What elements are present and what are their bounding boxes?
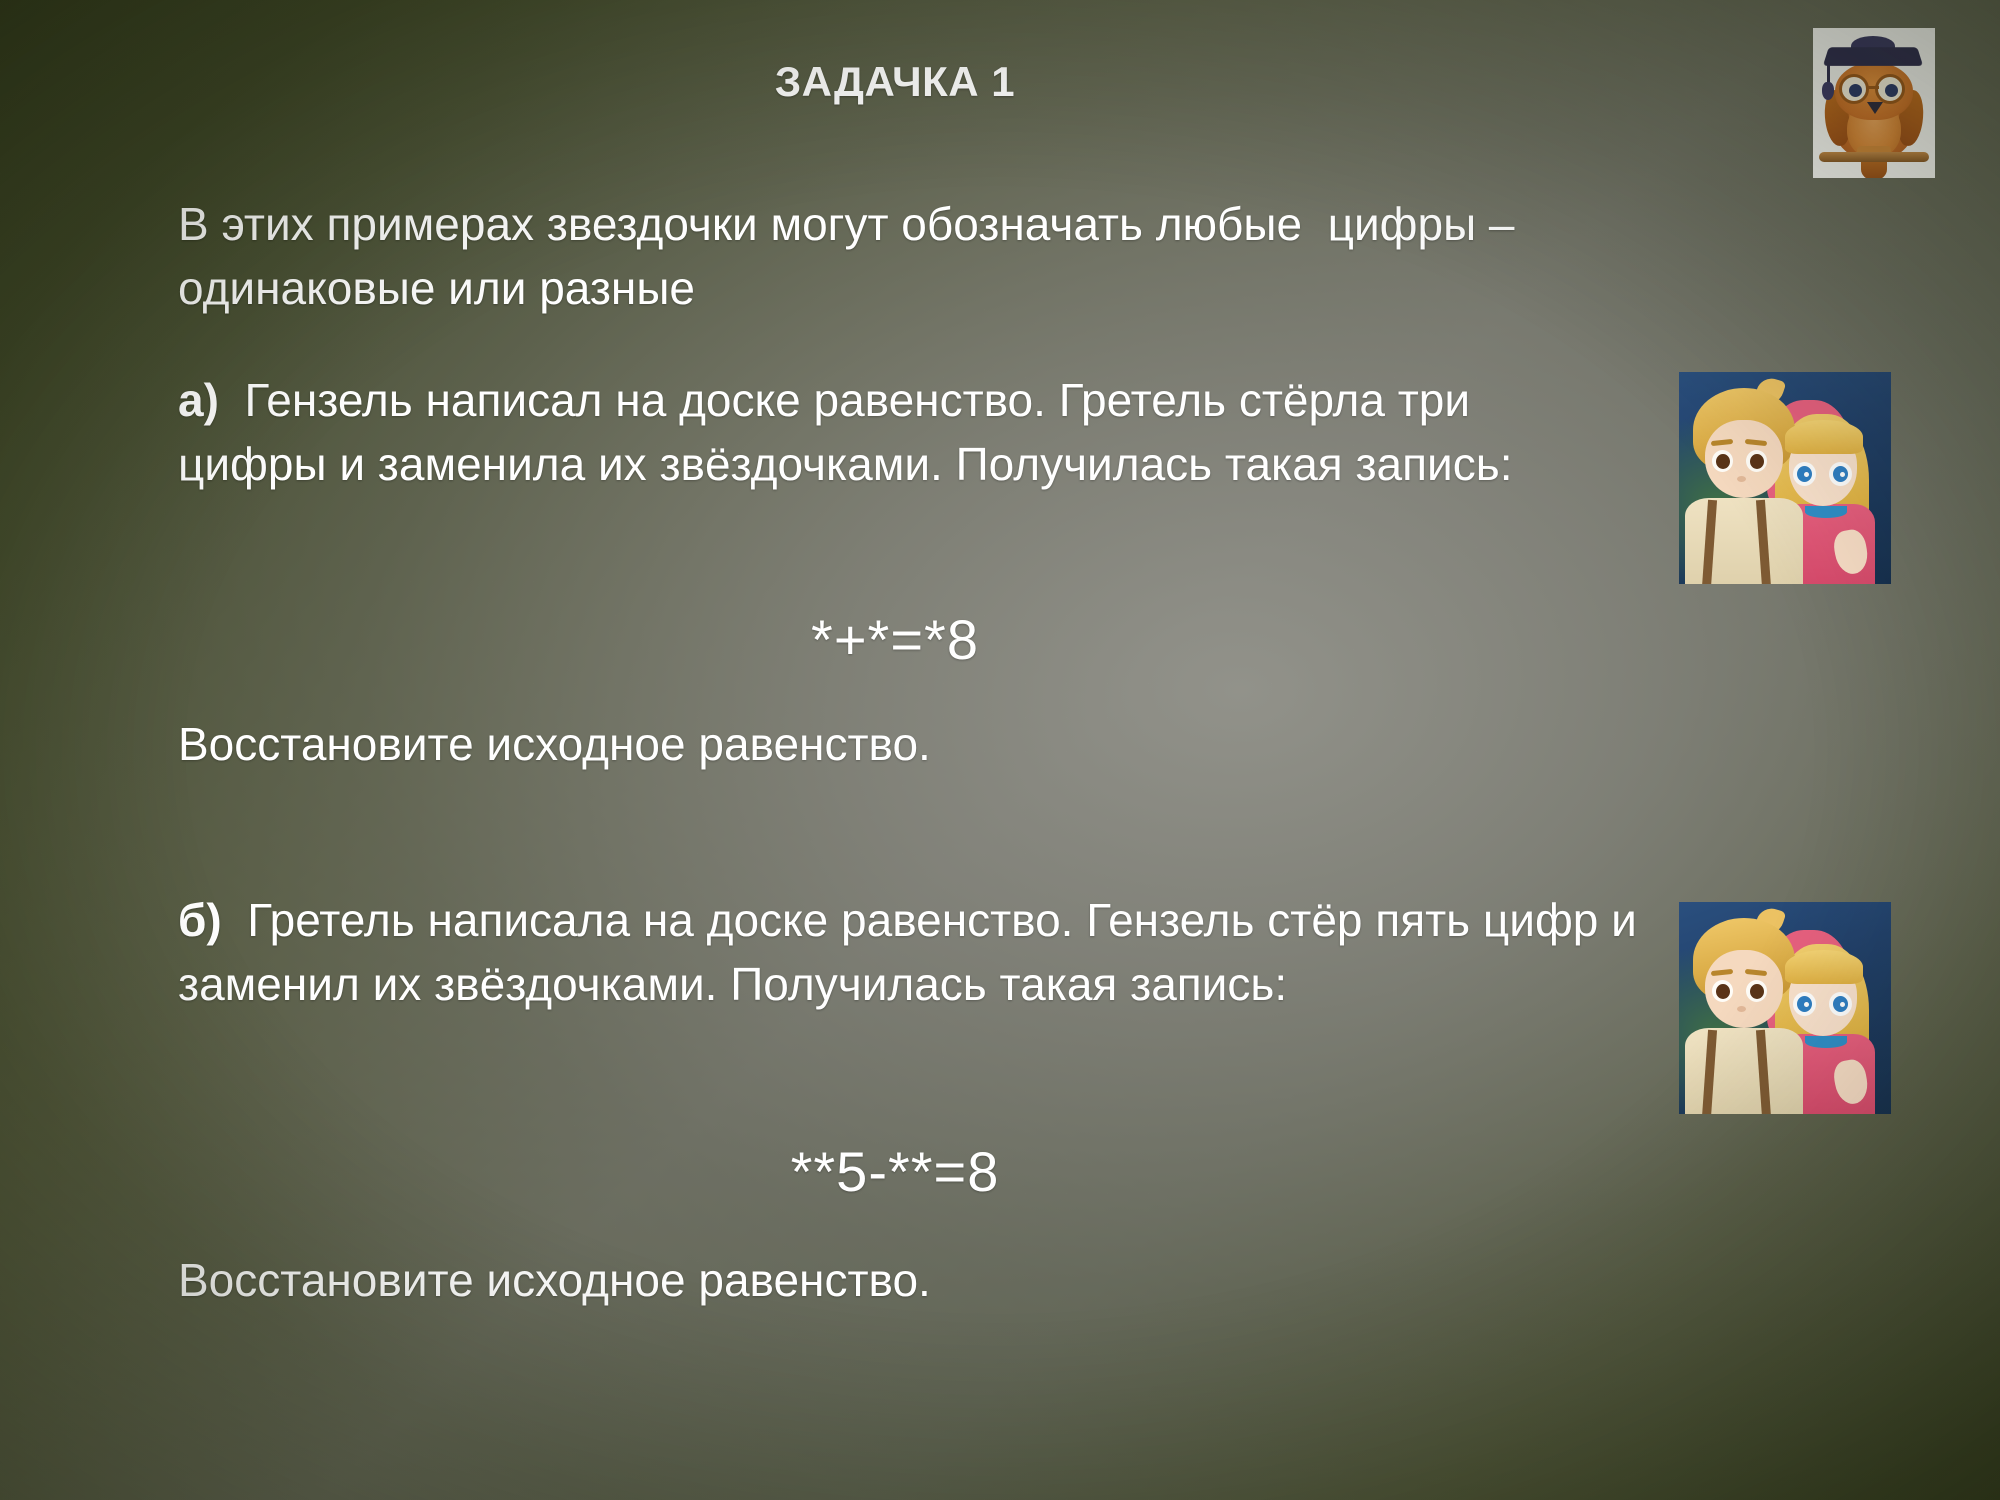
problem-b-text: б) Гретель написала на доске равенство. … bbox=[178, 888, 1638, 1016]
graduation-cap-tassel-end bbox=[1822, 82, 1834, 100]
hansel-pupil-left bbox=[1716, 984, 1730, 999]
hansel-pupil-left bbox=[1716, 454, 1730, 469]
problem-b-body: Гретель написала на доске равенство. Ген… bbox=[178, 894, 1650, 1010]
problem-b-equation: **5-**=8 bbox=[0, 1140, 1790, 1204]
hansel-pupil-right bbox=[1750, 454, 1764, 469]
gretel-pupil-left bbox=[1797, 466, 1812, 482]
gretel-collar bbox=[1805, 1036, 1847, 1048]
gretel-pupil-right bbox=[1833, 996, 1848, 1012]
owl-scholar-image bbox=[1813, 28, 1935, 178]
hansel-eye-left bbox=[1712, 450, 1733, 472]
page-title: ЗАДАЧКА 1 bbox=[0, 58, 1790, 106]
owl-icon bbox=[1813, 28, 1935, 178]
hansel-pupil-right bbox=[1750, 984, 1764, 999]
hansel-nose bbox=[1737, 476, 1746, 482]
gretel-eye-right bbox=[1829, 992, 1852, 1016]
graduation-cap-board bbox=[1823, 47, 1923, 66]
owl-glasses-bridge bbox=[1867, 86, 1879, 89]
hansel-eye-right bbox=[1746, 980, 1767, 1002]
gretel-bangs bbox=[1785, 950, 1863, 984]
hansel-gretel-image-a bbox=[1679, 372, 1891, 584]
gretel-bangs bbox=[1785, 420, 1863, 454]
problem-a-restore: Восстановите исходное равенство. bbox=[178, 712, 1378, 776]
gretel-pupil-right bbox=[1833, 466, 1848, 482]
problem-a-equation: *+*=*8 bbox=[0, 608, 1790, 672]
intro-paragraph: В этих примерах звездочки могут обознача… bbox=[178, 192, 1518, 320]
hansel-eye-right bbox=[1746, 450, 1767, 472]
hansel-eye-left bbox=[1712, 980, 1733, 1002]
hansel-gretel-image-b bbox=[1679, 902, 1891, 1114]
presentation-slide: ЗАДАЧКА 1 В этих примерах звездочки могу… bbox=[0, 0, 2000, 1500]
gretel-eye-left bbox=[1793, 462, 1816, 486]
gretel-eye-highlight-right bbox=[1840, 1002, 1845, 1007]
problem-a-body: Гензель написал на доске равенство. Грет… bbox=[178, 374, 1513, 490]
owl-branch bbox=[1819, 152, 1929, 162]
gretel-eye-left bbox=[1793, 992, 1816, 1016]
problem-b-restore: Восстановите исходное равенство. bbox=[178, 1248, 1378, 1312]
graduation-cap-tassel bbox=[1827, 58, 1830, 84]
owl-pupil-left bbox=[1849, 84, 1862, 97]
gretel-eye-right bbox=[1829, 462, 1852, 486]
gretel-pupil-left bbox=[1797, 996, 1812, 1012]
hansel-nose bbox=[1737, 1006, 1746, 1012]
owl-eye-right bbox=[1875, 74, 1905, 104]
gretel-collar bbox=[1805, 506, 1847, 518]
problem-b-marker: б) bbox=[178, 894, 222, 946]
gretel-eye-highlight-left bbox=[1804, 472, 1809, 477]
problem-a-marker: а) bbox=[178, 374, 219, 426]
owl-beak bbox=[1867, 102, 1883, 114]
gretel-eye-highlight-right bbox=[1840, 472, 1845, 477]
problem-a-text: а) Гензель написал на доске равенство. Г… bbox=[178, 368, 1598, 496]
owl-eye-left bbox=[1839, 74, 1869, 104]
owl-pupil-right bbox=[1885, 84, 1898, 97]
gretel-eye-highlight-left bbox=[1804, 1002, 1809, 1007]
